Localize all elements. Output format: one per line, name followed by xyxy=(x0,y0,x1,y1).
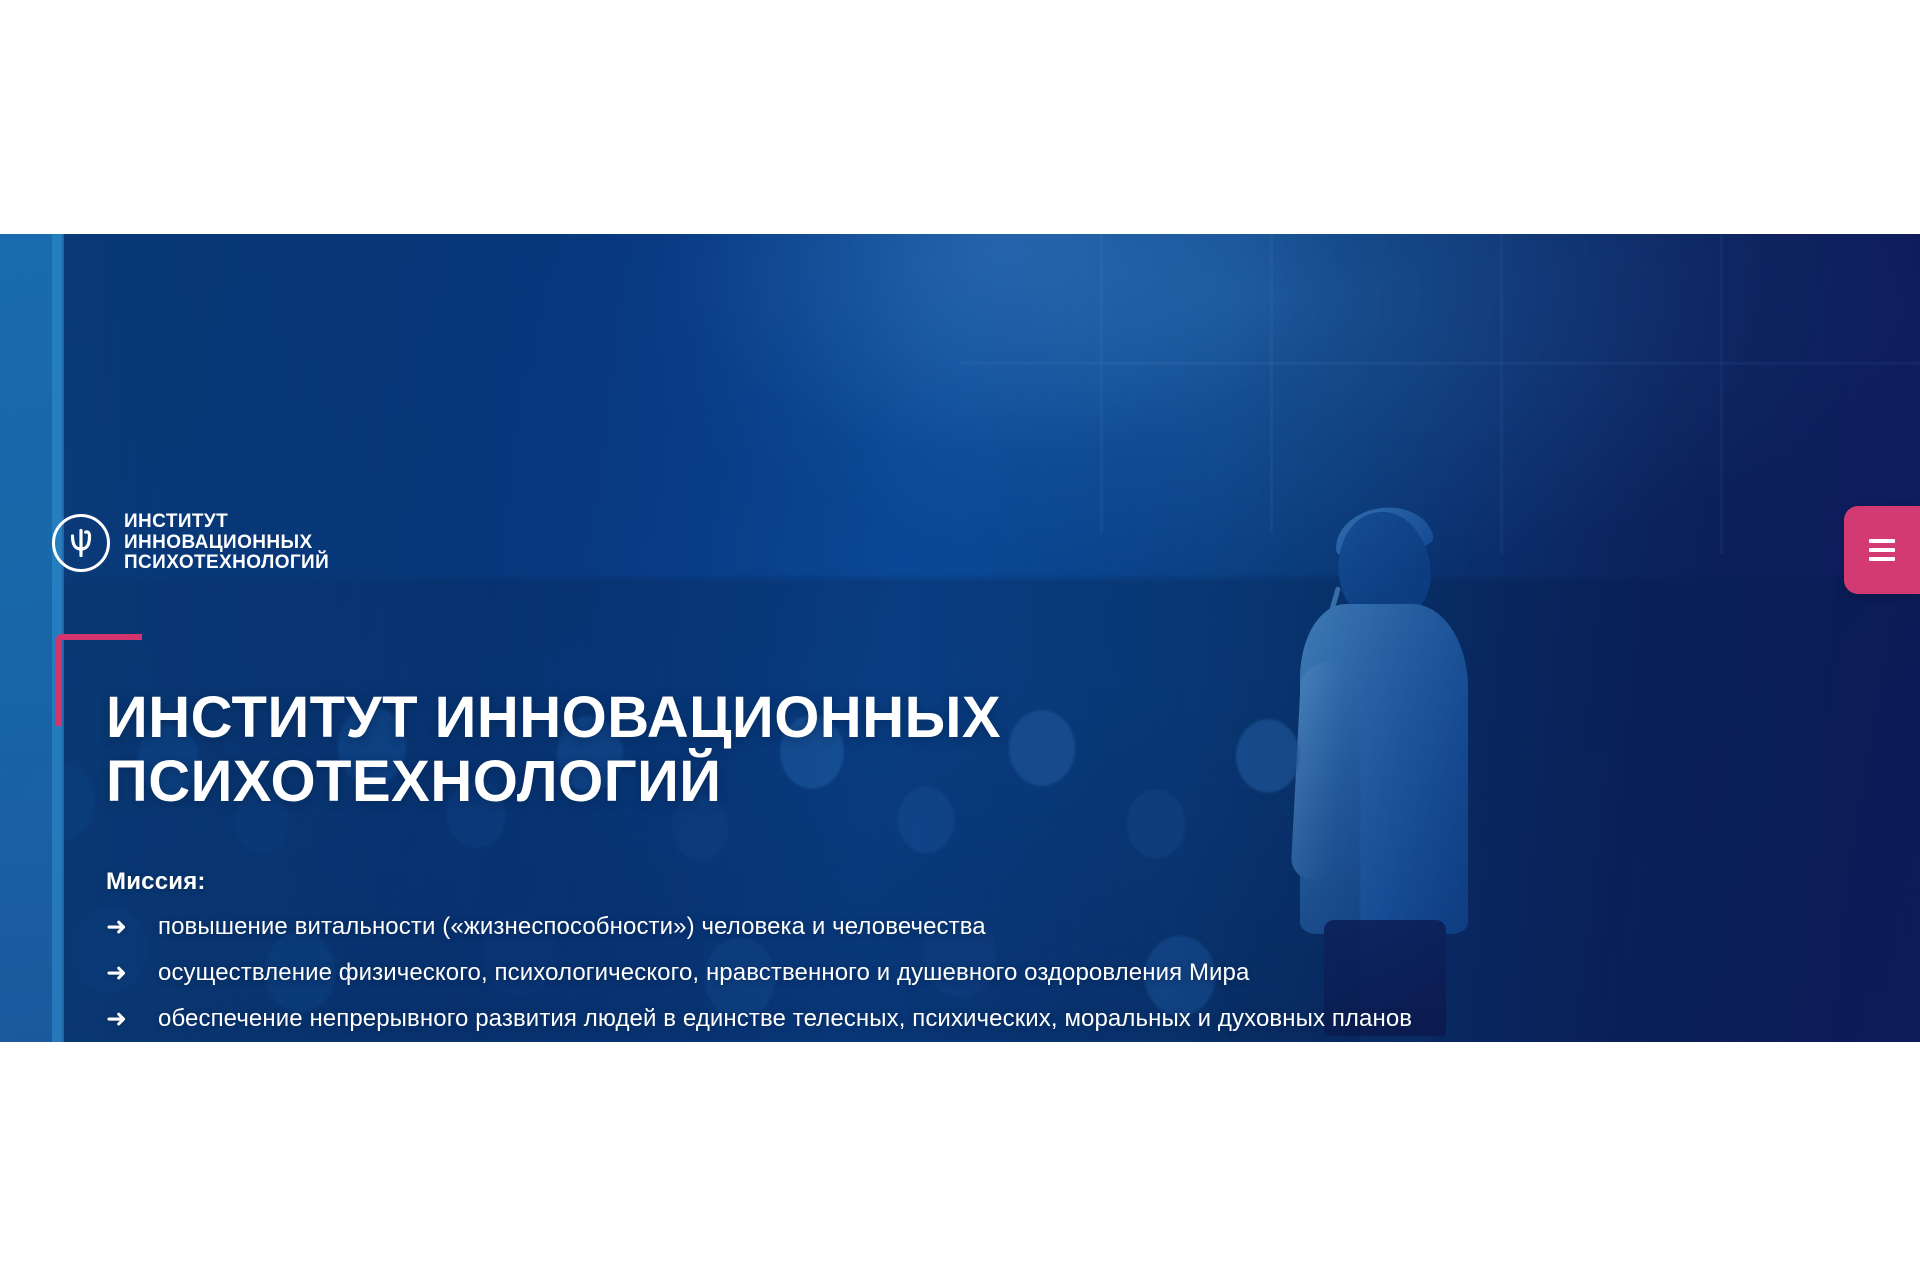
site-logo[interactable]: ИНСТИТУТ ИННОВАЦИОННЫХ ПСИХОТЕХНОЛОГИЙ xyxy=(52,512,329,574)
page-title-line-2: ПСИХОТЕХНОЛОГИЙ xyxy=(106,750,1286,814)
logo-line-1: ИНСТИТУТ xyxy=(124,512,329,533)
list-item: ➜ повышение витальности («жизнеспособнос… xyxy=(106,910,1826,944)
page-title-line-1: ИНСТИТУТ ИННОВАЦИОННЫХ xyxy=(106,686,1286,750)
hamburger-menu-button[interactable] xyxy=(1844,506,1920,594)
mission-heading: Миссия: xyxy=(106,868,1826,896)
mission-item-text: обеспечение непрерывного развития людей … xyxy=(158,1002,1412,1036)
arrow-right-icon: ➜ xyxy=(106,1002,158,1036)
hero-banner: ИНСТИТУТ ИННОВАЦИОННЫХ ПСИХОТЕХНОЛОГИЙ И… xyxy=(0,234,1920,1042)
psi-circle-logo-icon xyxy=(52,514,110,572)
mission-list: ➜ повышение витальности («жизнеспособнос… xyxy=(106,910,1826,1036)
hamburger-bar xyxy=(1869,548,1895,552)
page-title: ИНСТИТУТ ИННОВАЦИОННЫХ ПСИХОТЕХНОЛОГИЙ xyxy=(106,686,1286,814)
list-item: ➜ осуществление физического, психологиче… xyxy=(106,956,1826,990)
hamburger-menu-icon xyxy=(1869,539,1895,561)
page-root: ИНСТИТУТ ИННОВАЦИОННЫХ ПСИХОТЕХНОЛОГИЙ И… xyxy=(0,0,1920,1280)
hamburger-bar xyxy=(1869,557,1895,561)
list-item: ➜ обеспечение непрерывного развития люде… xyxy=(106,1002,1826,1036)
hamburger-bar xyxy=(1869,539,1895,543)
arrow-right-icon: ➜ xyxy=(106,956,158,990)
hero-content: ИНСТИТУТ ИННОВАЦИОННЫХ ПСИХОТЕХНОЛОГИЙ М… xyxy=(106,686,1826,1042)
arrow-right-icon: ➜ xyxy=(106,910,158,944)
logo-line-3: ПСИХОТЕХНОЛОГИЙ xyxy=(124,553,329,574)
mission-item-text: осуществление физического, психологическ… xyxy=(158,956,1249,990)
mission-item-text: повышение витальности («жизнеспособности… xyxy=(158,910,986,944)
logo-line-2: ИННОВАЦИОННЫХ xyxy=(124,533,329,554)
logo-wordmark: ИНСТИТУТ ИННОВАЦИОННЫХ ПСИХОТЕХНОЛОГИЙ xyxy=(124,512,329,574)
